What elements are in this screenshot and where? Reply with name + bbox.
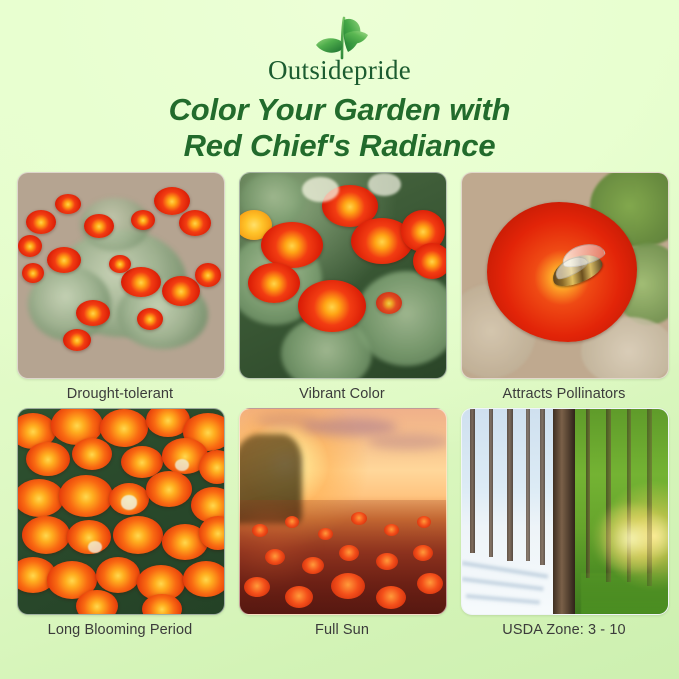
feature-image-full-sun xyxy=(239,408,447,615)
feature-card-long-blooming-period: Long Blooming Period xyxy=(17,408,223,639)
feature-image-drought-tolerant xyxy=(17,172,225,379)
feature-image-attracts-pollinators xyxy=(461,172,669,379)
feature-card-vibrant-color: Vibrant Color xyxy=(239,172,445,403)
product-infographic: Outsidepride Color Your Garden with Red … xyxy=(0,0,679,679)
feature-caption: Full Sun xyxy=(239,622,445,639)
feature-image-long-blooming-period xyxy=(17,408,225,615)
headline-line-1: Color Your Garden with xyxy=(0,92,679,128)
feature-card-full-sun: Full Sun xyxy=(239,408,445,639)
leaf-sprig-icon xyxy=(292,8,388,60)
feature-caption: USDA Zone: 3 - 10 xyxy=(461,622,667,639)
feature-card-usda-zone: USDA Zone: 3 - 10 xyxy=(461,408,667,639)
page-title: Color Your Garden with Red Chief's Radia… xyxy=(0,92,679,165)
feature-grid: Drought-tolerant xyxy=(17,172,662,640)
brand-logo: Outsidepride xyxy=(0,8,679,92)
feature-card-attracts-pollinators: Attracts Pollinators xyxy=(461,172,667,403)
brand-wordmark: Outsidepride xyxy=(0,57,679,84)
headline-line-2: Red Chief's Radiance xyxy=(0,128,679,164)
feature-caption: Drought-tolerant xyxy=(17,386,223,403)
feature-image-vibrant-color xyxy=(239,172,447,379)
feature-caption: Vibrant Color xyxy=(239,386,445,403)
feature-caption: Long Blooming Period xyxy=(17,622,223,639)
feature-image-usda-zone xyxy=(461,408,669,615)
feature-caption: Attracts Pollinators xyxy=(461,386,667,403)
feature-card-drought-tolerant: Drought-tolerant xyxy=(17,172,223,403)
